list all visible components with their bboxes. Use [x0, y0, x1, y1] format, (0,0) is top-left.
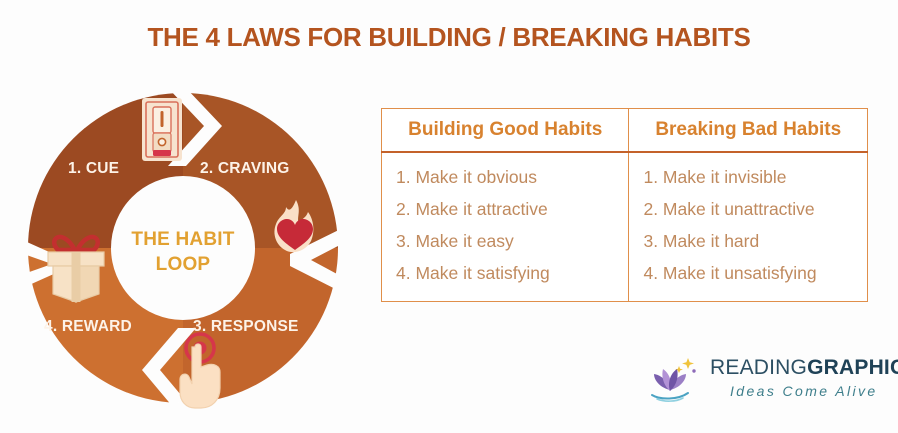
- building-habits-list: 1. Make it obvious 2. Make it attractive…: [382, 162, 628, 289]
- list-item: 1. Make it invisible: [643, 162, 867, 194]
- logo-word-reading: READING: [710, 356, 807, 379]
- list-item: 4. Make it unsatisfying: [643, 258, 867, 290]
- list-item: 3. Make it hard: [643, 226, 867, 258]
- list-item: 2. Make it attractive: [396, 194, 628, 226]
- list-item: 1. Make it obvious: [396, 162, 628, 194]
- table-row: 1. Make it obvious 2. Make it attractive…: [382, 152, 868, 302]
- light-switch-icon: [142, 98, 182, 161]
- table-header-row: Building Good Habits Breaking Bad Habits: [382, 109, 868, 153]
- laws-table: Building Good Habits Breaking Bad Habits…: [381, 108, 868, 302]
- habit-loop-diagram: 1. CUE 2. CRAVING 3. RESPONSE 4. REWARD …: [18, 88, 363, 413]
- readinggraphics-logo: READINGGRAPHICS Ideas Come Alive: [648, 352, 870, 410]
- segment-label-cue: 1. CUE: [68, 160, 119, 177]
- lotus-book-icon: [648, 354, 706, 404]
- logo-wordmark: READINGGRAPHICS: [710, 356, 898, 380]
- segment-label-reward: 4. REWARD: [44, 318, 132, 335]
- page-title: THE 4 LAWS FOR BUILDING / BREAKING HABIT…: [0, 22, 898, 53]
- center-label-line1: THE HABIT: [131, 229, 234, 250]
- segment-label-response: 3. RESPONSE: [193, 318, 299, 335]
- logo-tagline: Ideas Come Alive: [730, 383, 878, 399]
- segment-label-craving: 2. CRAVING: [200, 160, 290, 177]
- cell-building-laws: 1. Make it obvious 2. Make it attractive…: [382, 152, 629, 302]
- cell-breaking-laws: 1. Make it invisible 2. Make it unattrac…: [629, 152, 868, 302]
- column-header-building: Building Good Habits: [382, 109, 629, 153]
- logo-word-graphics: GRAPHICS: [807, 356, 898, 379]
- center-label-line2: LOOP: [156, 254, 211, 275]
- column-header-breaking: Breaking Bad Habits: [629, 109, 868, 153]
- list-item: 2. Make it unattractive: [643, 194, 867, 226]
- breaking-habits-list: 1. Make it invisible 2. Make it unattrac…: [629, 162, 867, 289]
- list-item: 4. Make it satisfying: [396, 258, 628, 290]
- list-item: 3. Make it easy: [396, 226, 628, 258]
